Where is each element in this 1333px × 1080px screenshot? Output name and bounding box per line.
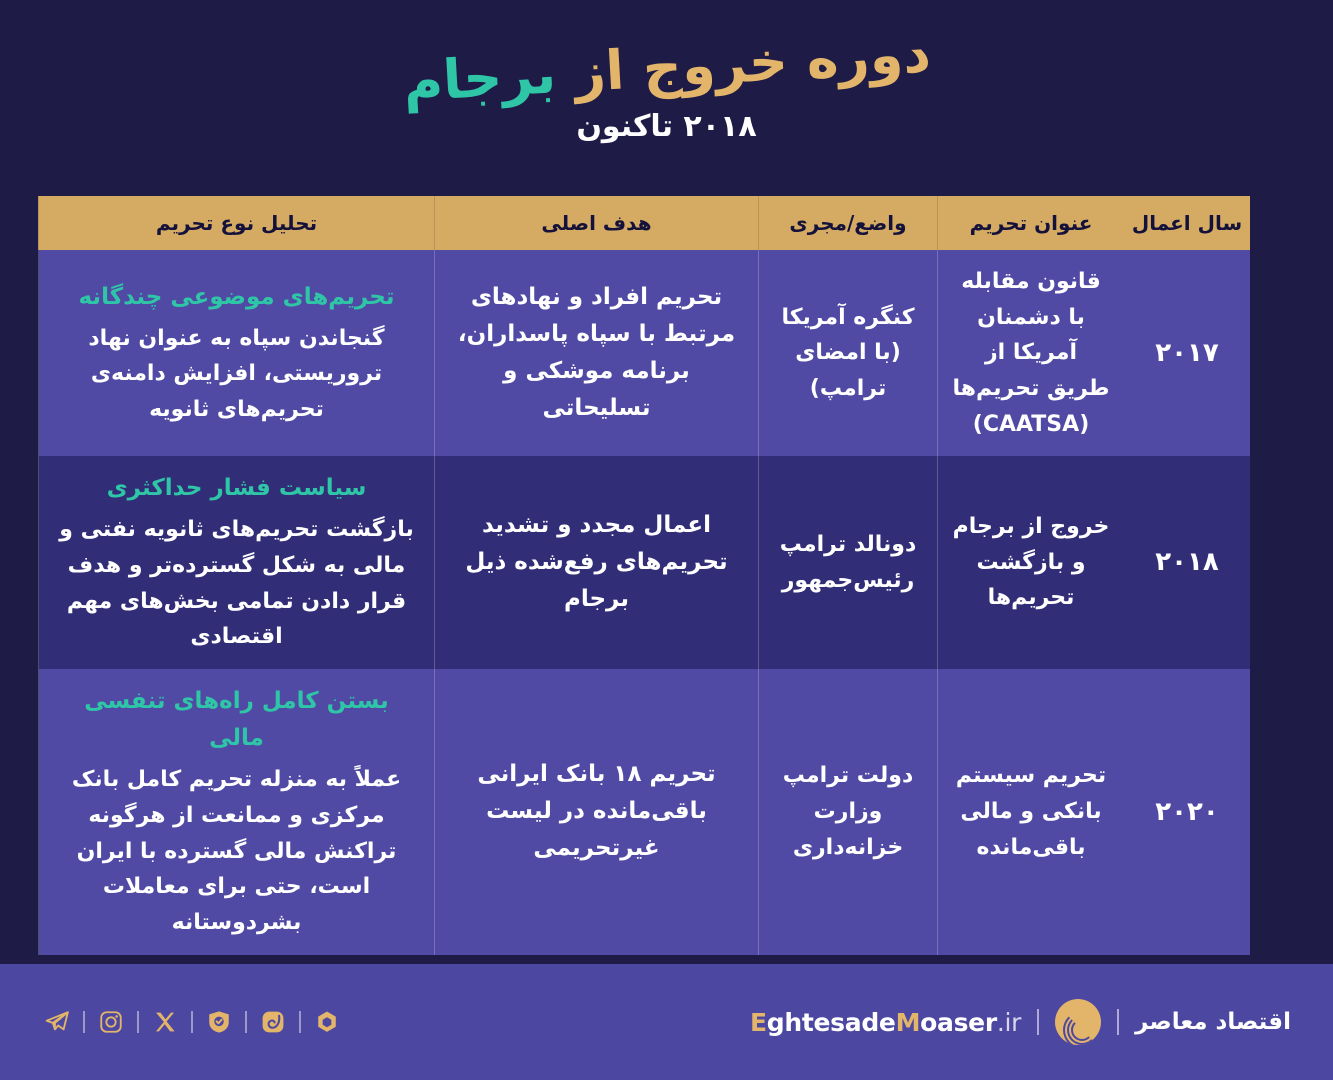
cell-actor: دونالد ترامپ رئیس‌جمهور: [759, 456, 938, 669]
analysis-description: عملاً به منزله تحریم کامل بانک مرکزی و م…: [53, 762, 420, 940]
column-header-goal: هدف اصلی: [435, 196, 759, 250]
column-header-analysis: تحلیل نوع تحریم: [39, 196, 435, 250]
social-separator: [137, 1011, 139, 1033]
rubika-icon[interactable]: [312, 1007, 342, 1037]
footer-bar: اقتصاد معاصر EghtesadeMoaser.ir: [0, 964, 1333, 1080]
sanctions-table: سال اعمال عنوان تحریم واضع/مجری هدف اصلی…: [38, 196, 1250, 955]
table-header: سال اعمال عنوان تحریم واضع/مجری هدف اصلی…: [39, 196, 1251, 250]
cell-title: قانون مقابله با دشمنان آمریکا از طریق تح…: [938, 250, 1125, 456]
column-header-year: سال اعمال: [1124, 196, 1250, 250]
cell-title: تحریم سیستم بانکی و مالی باقی‌مانده: [938, 669, 1125, 955]
cell-year: ۲۰۱۷: [1124, 250, 1250, 456]
table-body: ۲۰۱۷ قانون مقابله با دشمنان آمریکا از طر…: [39, 250, 1251, 955]
cell-year: ۲۰۲۰: [1124, 669, 1250, 955]
analysis-headline: سیاست فشار حداکثری: [53, 470, 420, 507]
cell-analysis: سیاست فشار حداکثری بازگشت تحریم‌های ثانو…: [39, 456, 435, 669]
cell-goal: اعمال مجدد و تشدید تحریم‌های رفع‌شده ذیل…: [435, 456, 759, 669]
brand-en-tld: .ir: [997, 1008, 1021, 1037]
social-separator: [299, 1011, 301, 1033]
brand-block: اقتصاد معاصر EghtesadeMoaser.ir: [750, 999, 1291, 1045]
sanctions-table-wrap: سال اعمال عنوان تحریم واضع/مجری هدف اصلی…: [82, 196, 1250, 955]
title-area: دوره خروج از برجام ۲۰۱۸ تاکنون: [0, 0, 1333, 144]
analysis-headline: تحریم‌های موضوعی چندگانه: [53, 279, 420, 316]
brand-en-oaser: oaser: [920, 1008, 997, 1037]
cell-goal: تحریم ۱۸ بانک ایرانی باقی‌مانده در لیست …: [435, 669, 759, 955]
eghtesade-moaser-logo-icon: [1055, 999, 1101, 1045]
instagram-icon[interactable]: [96, 1007, 126, 1037]
cell-goal: تحریم افراد و نهادهای مرتبط با سپاه پاسد…: [435, 250, 759, 456]
table-row: ۲۰۲۰ تحریم سیستم بانکی و مالی باقی‌مانده…: [39, 669, 1251, 955]
cell-actor: دولت ترامپ وزارت خزانه‌داری: [759, 669, 938, 955]
brand-divider: [1117, 1009, 1119, 1035]
x-twitter-icon[interactable]: [150, 1007, 180, 1037]
social-links: [42, 1007, 342, 1037]
analysis-description: بازگشت تحریم‌های ثانویه نفتی و مالی به ش…: [53, 512, 420, 655]
page-title: دوره خروج از برجام: [401, 23, 931, 112]
brand-en-ghtesade: ghtesade: [767, 1008, 896, 1037]
analysis-description: گنجاندن سپاه به عنوان نهاد تروریستی، افز…: [53, 321, 420, 428]
bale-icon[interactable]: [204, 1007, 234, 1037]
table-row: ۲۰۱۷ قانون مقابله با دشمنان آمریکا از طر…: [39, 250, 1251, 456]
brand-en-cap-e: E: [750, 1008, 767, 1037]
column-header-actor: واضع/مجری: [759, 196, 938, 250]
social-separator: [245, 1011, 247, 1033]
telegram-icon[interactable]: [42, 1007, 72, 1037]
brand-name-en: EghtesadeMoaser.ir: [750, 1008, 1021, 1037]
cell-year: ۲۰۱۸: [1124, 456, 1250, 669]
analysis-headline: بستن کامل راه‌های تنفسی مالی: [53, 683, 420, 758]
page-subtitle: ۲۰۱۸ تاکنون: [0, 109, 1333, 144]
table-row: ۲۰۱۸ خروج از برجام و بازگشت تحریم‌ها دون…: [39, 456, 1251, 669]
brand-divider: [1037, 1009, 1039, 1035]
brand-en-cap-m: M: [896, 1008, 921, 1037]
eitaa-icon[interactable]: [258, 1007, 288, 1037]
column-header-title: عنوان تحریم: [938, 196, 1125, 250]
cell-actor: کنگره آمریکا (با امضای ترامپ): [759, 250, 938, 456]
social-separator: [83, 1011, 85, 1033]
cell-title: خروج از برجام و بازگشت تحریم‌ها: [938, 456, 1125, 669]
cell-analysis: تحریم‌های موضوعی چندگانه گنجاندن سپاه به…: [39, 250, 435, 456]
cell-analysis: بستن کامل راه‌های تنفسی مالی عملاً به من…: [39, 669, 435, 955]
brand-name-fa: اقتصاد معاصر: [1135, 1009, 1291, 1035]
table-header-row: سال اعمال عنوان تحریم واضع/مجری هدف اصلی…: [39, 196, 1251, 250]
social-separator: [191, 1011, 193, 1033]
page-title-part-one: دوره خروج از: [572, 21, 931, 104]
page-title-part-two: برجام: [401, 42, 557, 113]
